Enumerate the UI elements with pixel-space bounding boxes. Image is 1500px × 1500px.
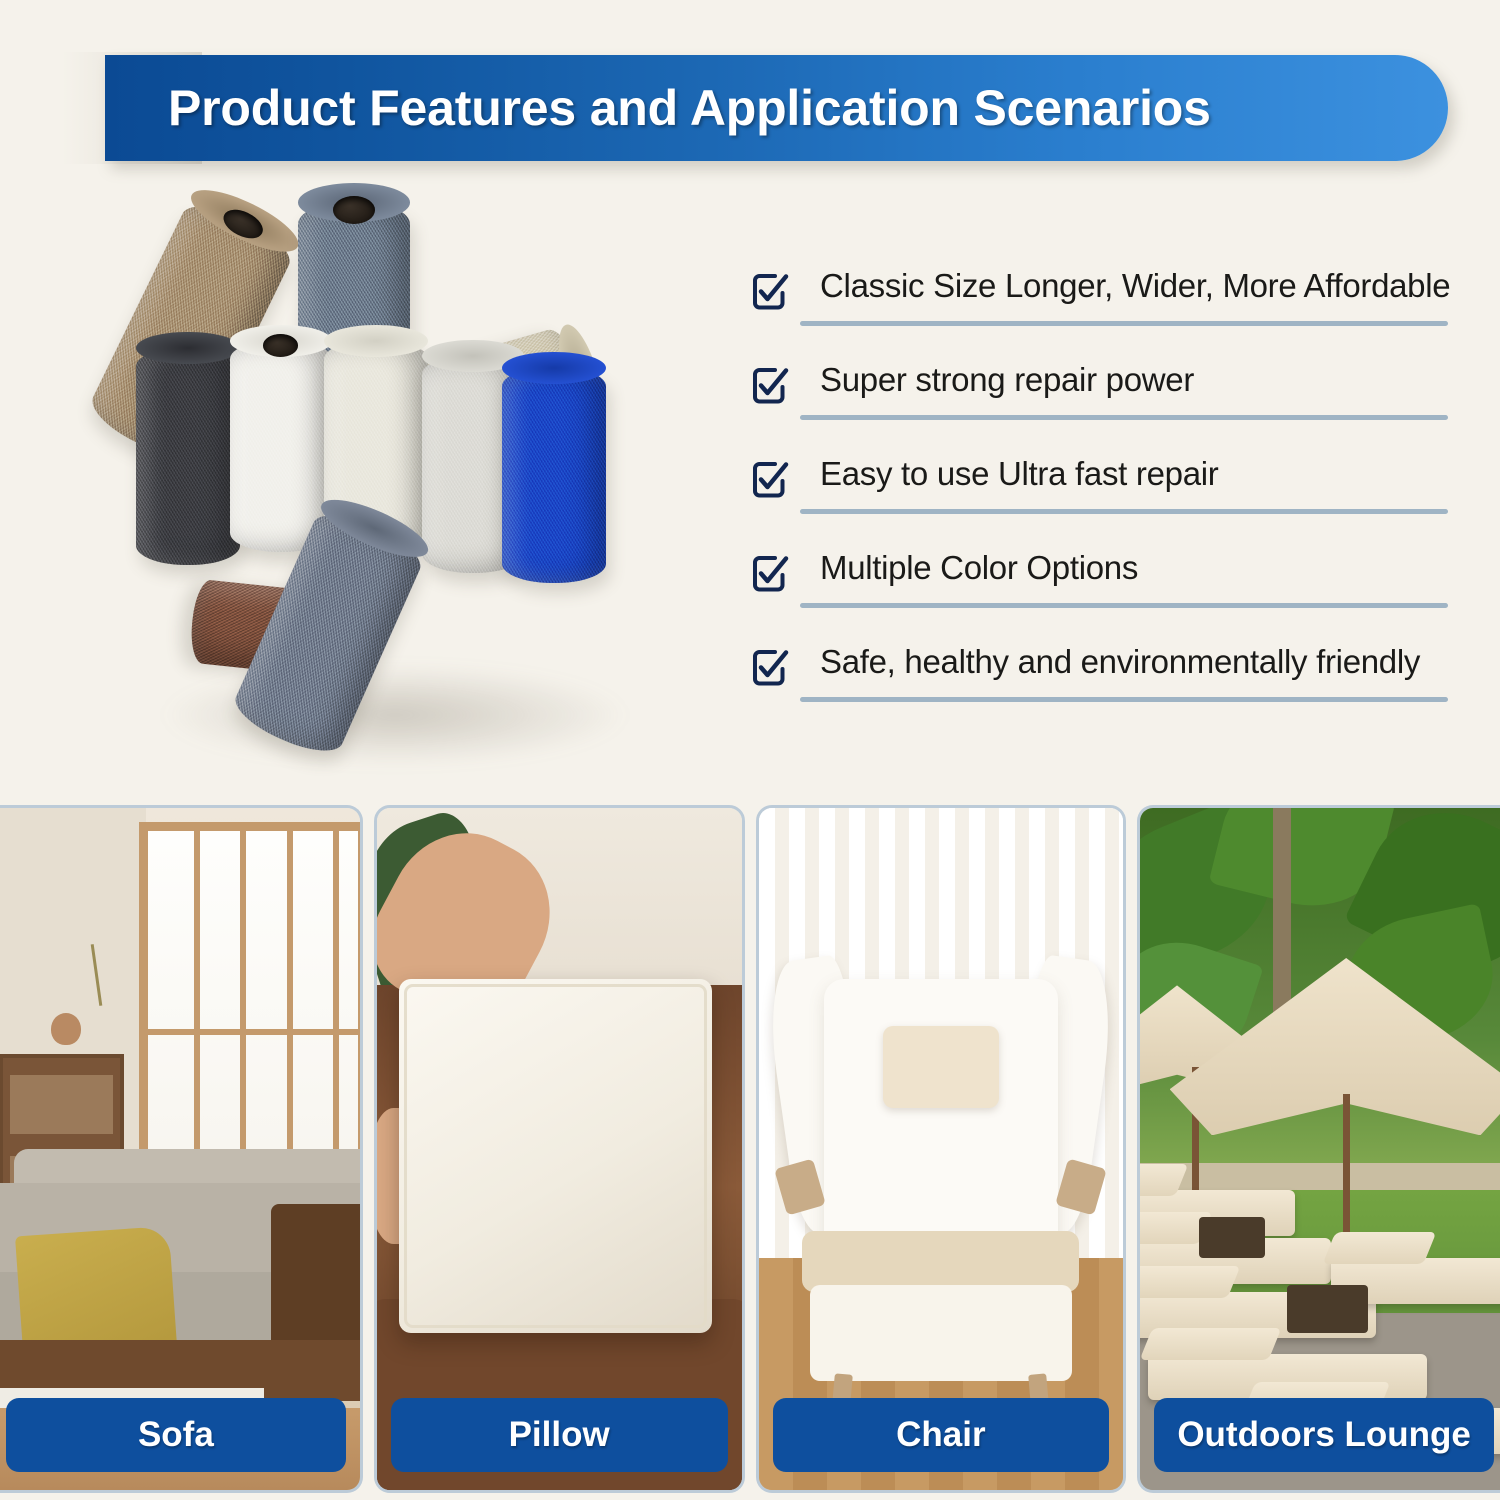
scenario-label-sofa: Sofa [6,1398,346,1472]
feature-label: Safe, healthy and environmentally friend… [820,643,1420,681]
tape-roll-blue [502,367,606,583]
checkbox-checked-icon [748,271,790,313]
product-hero-image [120,195,665,765]
scenario-label-outdoors-lounge: Outdoors Lounge [1154,1398,1494,1472]
checkbox-checked-icon [748,553,790,595]
tape-roll-charcoal [136,347,240,565]
scenario-label-chair: Chair [773,1398,1110,1472]
feature-item: Safe, healthy and environmentally friend… [748,639,1448,733]
scenario-card-pillow[interactable]: Pillow [374,805,745,1493]
scenario-card-sofa[interactable]: Sofa [0,805,363,1493]
checkbox-checked-icon [748,365,790,407]
feature-label: Multiple Color Options [820,549,1138,587]
feature-list: Classic Size Longer, Wider, More Afforda… [748,263,1448,733]
feature-item: Classic Size Longer, Wider, More Afforda… [748,263,1448,357]
scenario-photo-outdoors [1140,808,1500,1490]
header-banner: Product Features and Application Scenari… [105,55,1448,161]
feature-label: Classic Size Longer, Wider, More Afforda… [820,267,1450,305]
feature-item: Super strong repair power [748,357,1448,451]
feature-divider [800,603,1448,608]
scenario-label-pillow: Pillow [391,1398,728,1472]
scenario-card-row: Sofa Pillow [0,805,1500,1493]
page-title: Product Features and Application Scenari… [105,79,1211,137]
feature-divider [800,697,1448,702]
feature-item: Multiple Color Options [748,545,1448,639]
infographic-page: Product Features and Application Scenari… [0,0,1500,1500]
feature-divider [800,415,1448,420]
feature-label: Easy to use Ultra fast repair [820,455,1218,493]
scenario-photo-pillow [377,808,742,1490]
checkbox-checked-icon [748,647,790,689]
feature-item: Easy to use Ultra fast repair [748,451,1448,545]
feature-divider [800,321,1448,326]
checkbox-checked-icon [748,459,790,501]
scenario-photo-sofa [0,808,360,1490]
scenario-photo-chair [759,808,1124,1490]
feature-divider [800,509,1448,514]
feature-label: Super strong repair power [820,361,1194,399]
scenario-card-chair[interactable]: Chair [756,805,1127,1493]
scenario-card-outdoors-lounge[interactable]: Outdoors Lounge [1137,805,1500,1493]
